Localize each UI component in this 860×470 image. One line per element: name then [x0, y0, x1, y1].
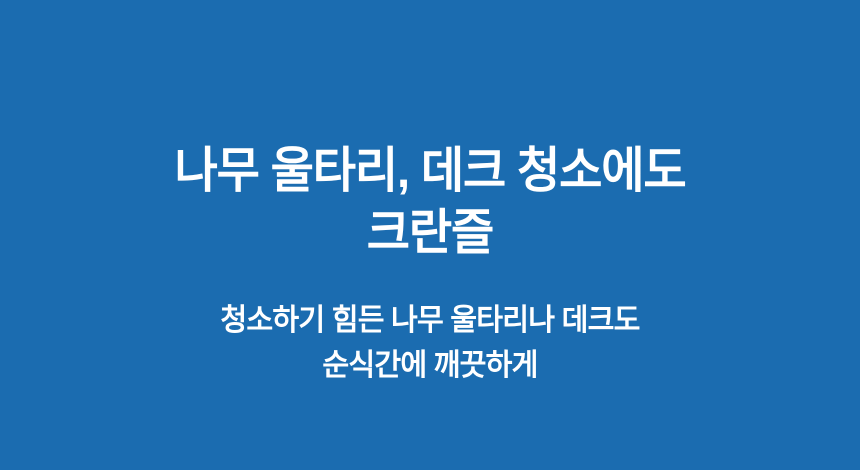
subhead-line-2: 순식간에 깨끗하게	[13, 343, 847, 388]
page-title: 나무 울타리, 데크 청소에도 크란즐	[17, 140, 843, 264]
subhead-line-1: 청소하기 힘든 나무 울타리나 데크도	[13, 298, 847, 343]
headline-line-2: 크란즐	[17, 202, 843, 264]
headline-line-1: 나무 울타리, 데크 청소에도	[17, 140, 843, 202]
page-subtitle: 청소하기 힘든 나무 울타리나 데크도 순식간에 깨끗하게	[13, 298, 847, 388]
promo-banner: 나무 울타리, 데크 청소에도 크란즐 청소하기 힘든 나무 울타리나 데크도 …	[0, 0, 860, 470]
